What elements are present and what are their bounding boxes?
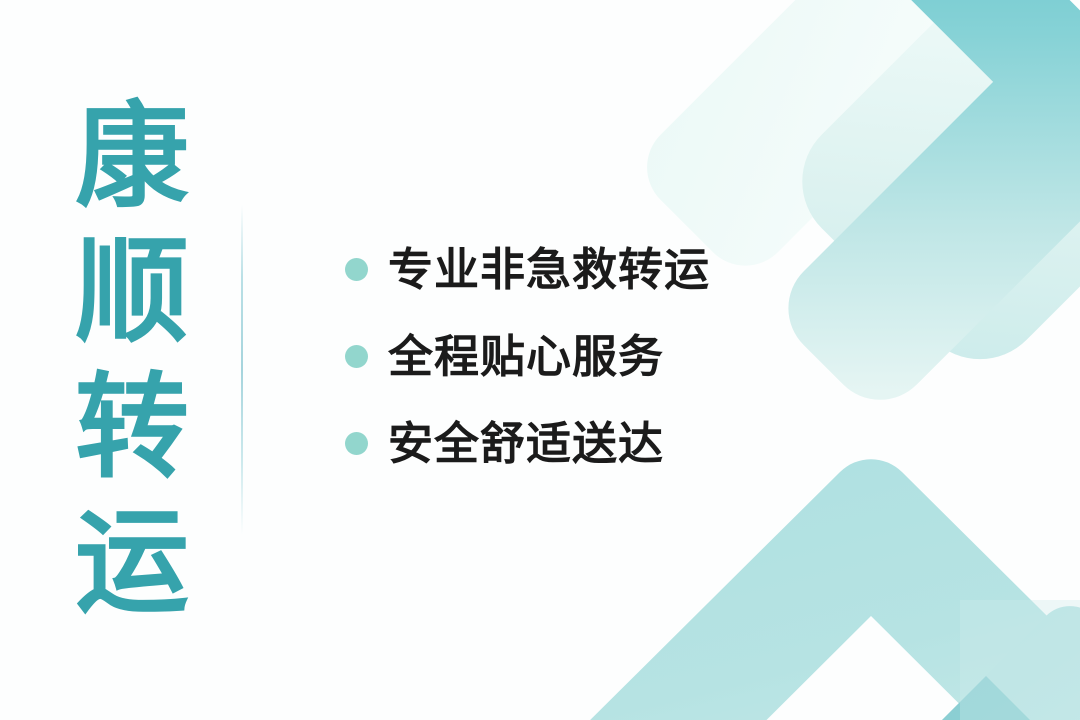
chevron-top-right-notch <box>705 0 958 236</box>
poster-canvas: 康 顺 转 运 专业非急救转运 全程贴心服务 安全舒适送达 <box>0 0 1080 720</box>
brand-char-3: 转 <box>75 371 189 485</box>
feature-label-2: 全程贴心服务 <box>388 334 664 379</box>
bullet-dot-icon <box>345 432 368 455</box>
chevron-top-right-inner <box>775 0 1080 386</box>
chevron-bottom-right-overlap <box>922 676 1066 720</box>
chevron-bottom-right-small <box>902 606 1080 720</box>
brand-char-2: 顺 <box>75 235 189 349</box>
bullet-dot-icon <box>345 258 368 281</box>
feature-label-1: 专业非急救转运 <box>388 247 710 292</box>
feature-item-3: 安全舒适送达 <box>345 414 815 472</box>
vertical-divider <box>241 205 243 535</box>
feature-label-3: 安全舒适送达 <box>388 421 664 466</box>
feature-item-1: 专业非急救转运 <box>345 240 815 298</box>
feature-list: 专业非急救转运 全程贴心服务 安全舒适送达 <box>345 240 815 472</box>
brand-title: 康 顺 转 运 <box>62 100 202 620</box>
brand-char-1: 康 <box>75 100 189 214</box>
brand-char-4: 运 <box>75 506 189 620</box>
chevron-bottom-right-large <box>570 459 1080 720</box>
feature-item-2: 全程贴心服务 <box>345 327 815 385</box>
corner-wash <box>960 600 1080 720</box>
bullet-dot-icon <box>345 345 368 368</box>
